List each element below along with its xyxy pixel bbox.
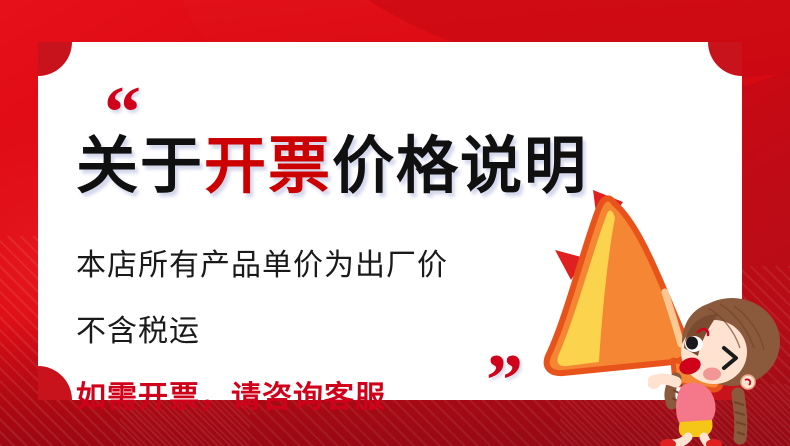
girl-ear: [741, 375, 755, 389]
card-notch-top-left: [38, 42, 72, 76]
girl-eye-open-pupil: [686, 337, 698, 350]
girl-braid-right: [734, 394, 746, 438]
title-part-highlight: 开票: [204, 132, 332, 201]
cartoon-girl-illustration: [648, 286, 790, 446]
girl-cheek-blush: [703, 368, 721, 381]
card-notch-bottom-left: [38, 366, 72, 400]
promo-banner: “ 关于开票价格说明 本店所有产品单价为出厂价 不含税运 如需开票，请咨询客服 …: [0, 0, 790, 446]
girl-dress-top: [676, 383, 715, 426]
card-notch-top-right: [708, 42, 742, 76]
opening-quote-icon: “: [104, 76, 141, 150]
